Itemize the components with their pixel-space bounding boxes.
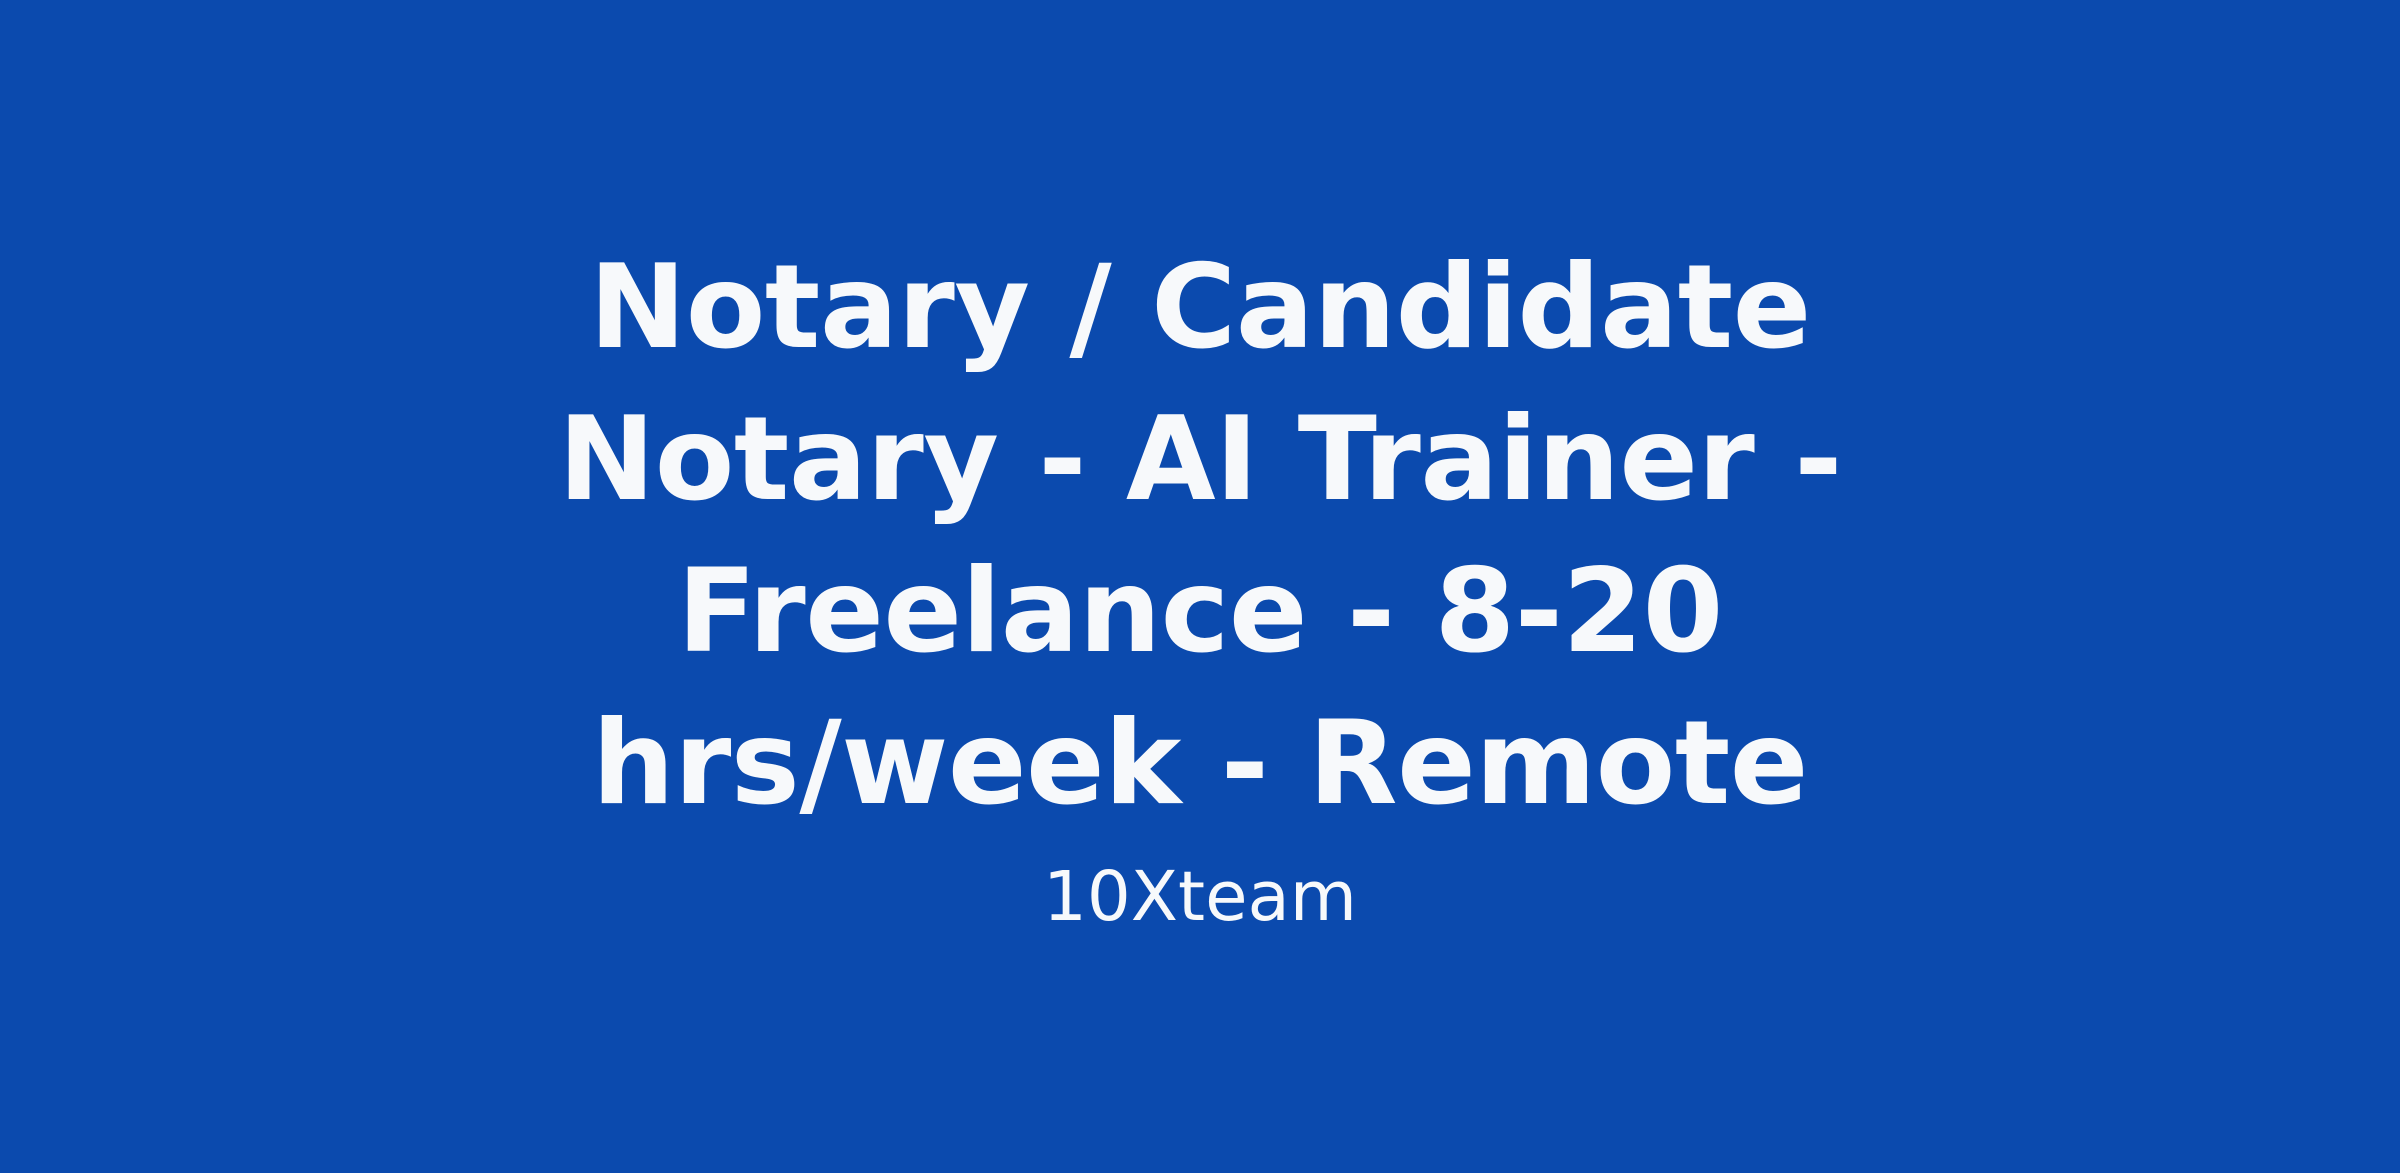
job-share-card: Notary / Candidate Notary - AI Trainer -…: [0, 0, 2400, 1173]
company-name: 10Xteam: [545, 854, 1855, 940]
job-title: Notary / Candidate Notary - AI Trainer -…: [545, 232, 1855, 840]
card-content-block: Notary / Candidate Notary - AI Trainer -…: [545, 232, 1855, 940]
